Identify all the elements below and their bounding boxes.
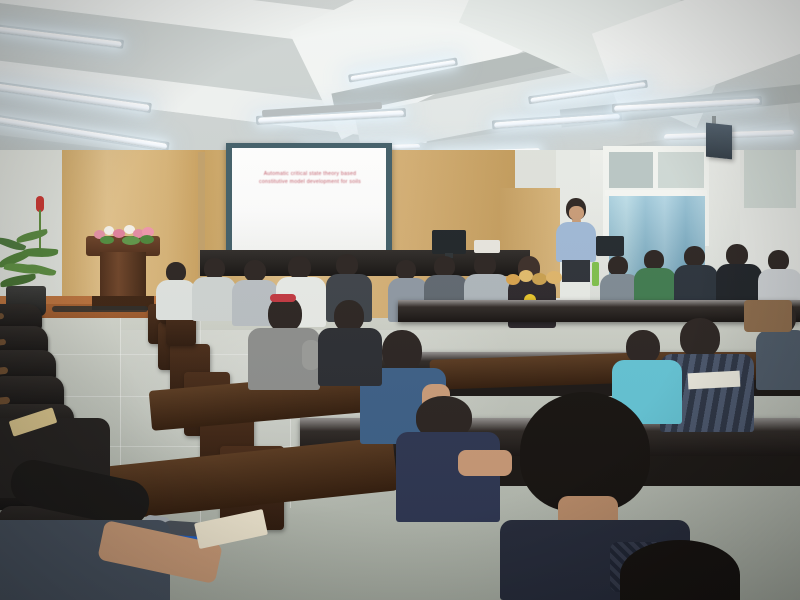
window-pane-right xyxy=(658,152,704,188)
slide-text: Automatic critical state theory based co… xyxy=(246,170,374,186)
window-pane-left xyxy=(609,152,653,188)
podium-flowers xyxy=(92,224,158,244)
presenter-trousers xyxy=(562,260,590,282)
table-flower-arrangement xyxy=(506,268,564,290)
cap-stripe xyxy=(270,294,296,302)
slide-line-1: Automatic critical state theory based xyxy=(246,170,374,178)
handbag xyxy=(744,300,792,332)
photo-scene: Automatic critical state theory based co… xyxy=(0,0,800,600)
presenter-shirt xyxy=(556,222,596,262)
water-bottle xyxy=(592,262,599,286)
wall-speaker xyxy=(706,123,732,160)
projection-screen xyxy=(232,148,386,252)
slide-line-2: constitutive model development for soils xyxy=(246,178,374,186)
far-window xyxy=(744,150,796,208)
potted-plant-foliage xyxy=(0,228,66,292)
desk-row-3-gloss xyxy=(398,300,800,307)
paper-sheet xyxy=(688,371,741,390)
